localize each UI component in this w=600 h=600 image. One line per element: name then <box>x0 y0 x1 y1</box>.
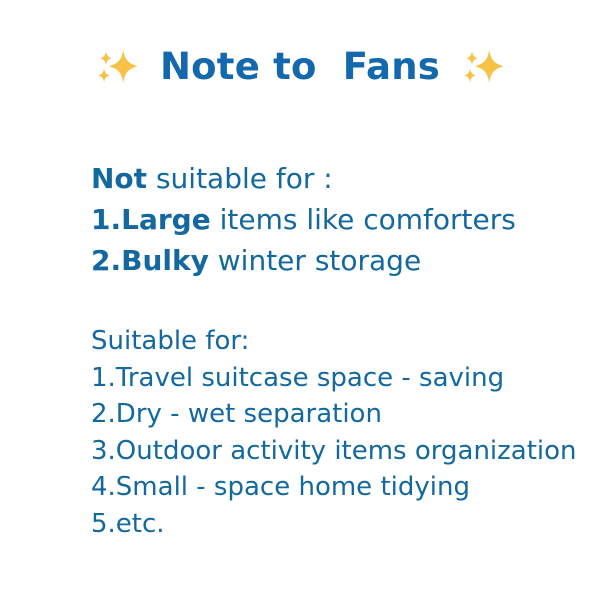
not-suitable-section: Not suitable for : 1.Large items like co… <box>91 158 516 281</box>
sparkles-icon-left <box>94 44 140 90</box>
not-suitable-item-2: 2.Bulky winter storage <box>91 240 516 281</box>
sparkles-icon-right <box>460 44 506 90</box>
not-suitable-item-2-bold: 2.Bulky <box>91 244 209 277</box>
not-suitable-heading-bold: Not <box>91 162 147 195</box>
note-to-fans-graphic: Note to Fans Not suitable for : 1.Large … <box>0 0 600 600</box>
not-suitable-item-2-rest: winter storage <box>209 244 421 277</box>
not-suitable-heading-rest: suitable for : <box>147 162 333 195</box>
suitable-item-4: 4.Small - space home tidying <box>91 469 577 506</box>
page-title: Note to Fans <box>160 48 440 87</box>
suitable-item-1: 1.Travel suitcase space - saving <box>91 360 577 397</box>
not-suitable-item-1-rest: items like comforters <box>211 203 516 236</box>
not-suitable-heading: Not suitable for : <box>91 158 516 199</box>
suitable-heading: Suitable for: <box>91 323 577 360</box>
suitable-section: Suitable for: 1.Travel suitcase space - … <box>91 323 577 542</box>
not-suitable-item-1-bold: 1.Large <box>91 203 211 236</box>
title-row: Note to Fans <box>0 44 600 90</box>
not-suitable-item-1: 1.Large items like comforters <box>91 199 516 240</box>
suitable-item-2: 2.Dry - wet separation <box>91 396 577 433</box>
suitable-item-3: 3.Outdoor activity items organization <box>91 433 577 470</box>
suitable-item-5: 5.etc. <box>91 506 577 543</box>
